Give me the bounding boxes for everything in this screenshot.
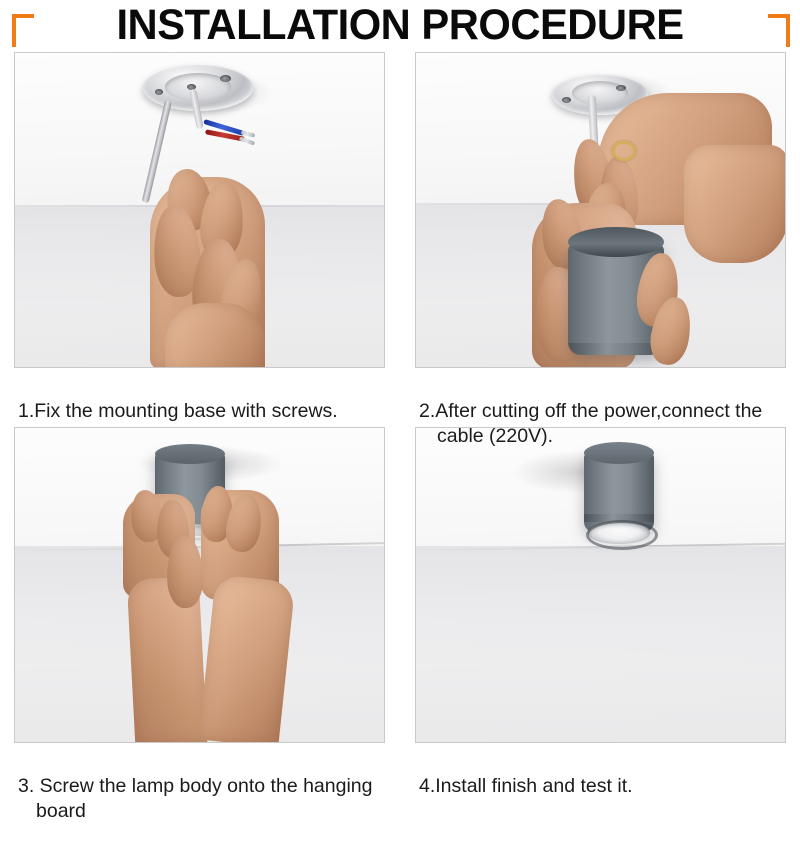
installation-procedure-infographic: INSTALLATION PROCEDURE	[0, 0, 800, 800]
step-2-photo	[415, 52, 786, 368]
step-2-caption-line2: cable (220V).	[419, 424, 797, 449]
step-2-caption-line1: 2.After cutting off the power,connect th…	[419, 400, 762, 422]
gold-ring	[612, 141, 636, 161]
step-2-caption: 2.After cutting off the power,connect th…	[419, 374, 797, 474]
step-4-caption-line1: 4.Install finish and test it.	[419, 775, 633, 797]
page-title: INSTALLATION PROCEDURE	[12, 2, 788, 48]
step-1-photo	[14, 52, 385, 368]
step-4-caption: 4.Install finish and test it.	[419, 749, 797, 799]
forearm-right	[199, 574, 296, 743]
header: INSTALLATION PROCEDURE	[0, 0, 800, 50]
step-3-photo	[14, 427, 385, 743]
step-3-caption: 3. Screw the lamp body onto the hanging …	[18, 749, 398, 849]
step-4-photo	[415, 427, 786, 743]
step-1-caption-line1: 1.Fix the mounting base with screws.	[18, 400, 338, 422]
step-1-caption: 1.Fix the mounting base with screws.	[18, 374, 398, 424]
step-3-caption-line1: 3. Screw the lamp body onto the hanging	[18, 775, 373, 797]
step-3-caption-line2: board	[18, 799, 398, 824]
